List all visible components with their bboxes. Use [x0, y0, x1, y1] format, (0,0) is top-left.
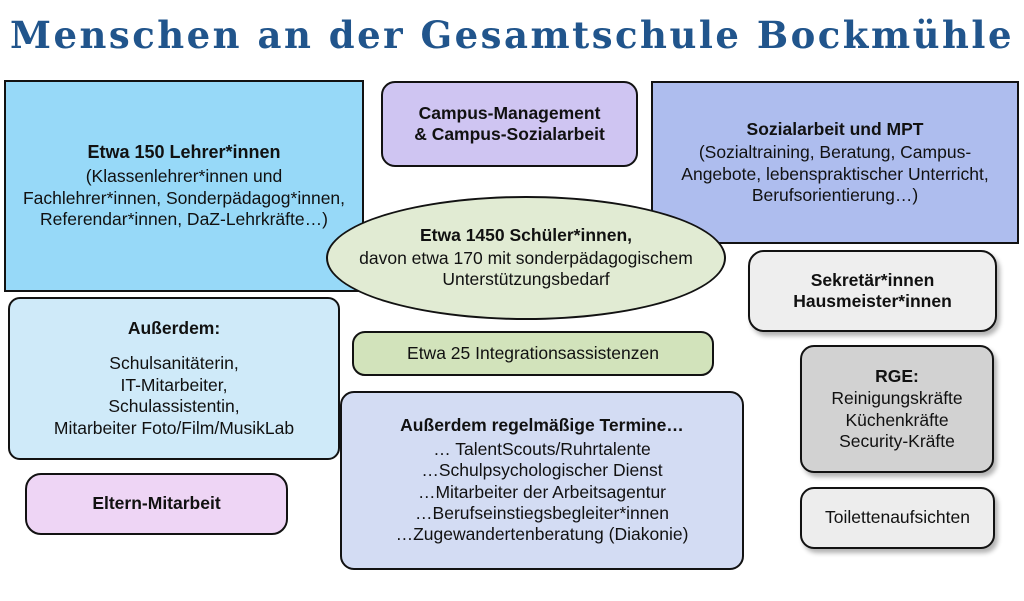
social-work-line-3: Berufsorientierung…)	[752, 185, 918, 206]
appointments-box[interactable]: Außerdem regelmäßige Termine… … TalentSc…	[340, 391, 744, 570]
additional-staff-line-1: Schulsanitäterin,	[109, 353, 238, 374]
social-work-heading: Sozialarbeit und MPT	[747, 119, 924, 140]
additional-staff-line-4: Mitarbeiter Foto/Film/MusikLab	[54, 418, 294, 439]
secretaries-line-2: Hausmeister*innen	[793, 291, 952, 312]
appointments-line-3: …Mitarbeiter der Arbeitsagentur	[418, 482, 666, 503]
social-work-box[interactable]: Sozialarbeit und MPT (Sozialtraining, Be…	[651, 81, 1019, 244]
campus-management-box[interactable]: Campus-Management & Campus-Sozialarbeit	[381, 81, 638, 167]
page-title: Menschen an der Gesamtschule Bockmühle	[0, 13, 1024, 57]
students-ellipse[interactable]: Etwa 1450 Schüler*innen, davon etwa 170 …	[326, 196, 726, 320]
campus-line-1: Campus-Management	[419, 103, 601, 124]
social-work-line-1: (Sozialtraining, Beratung, Campus-	[699, 142, 971, 163]
additional-staff-heading: Außerdem:	[128, 318, 220, 339]
rge-line-2: Küchenkräfte	[845, 410, 948, 431]
students-heading: Etwa 1450 Schüler*innen,	[420, 225, 632, 246]
teachers-line-1: (Klassenlehrer*innen und	[86, 166, 283, 187]
integration-label: Etwa 25 Integrationsassistenzen	[407, 343, 659, 364]
appointments-line-1: … TalentScouts/Ruhrtalente	[433, 439, 651, 460]
rge-line-3: Security-Kräfte	[839, 431, 955, 452]
toilet-supervision-box[interactable]: Toilettenaufsichten	[800, 487, 995, 549]
parents-box[interactable]: Eltern-Mitarbeit	[25, 473, 288, 535]
appointments-heading: Außerdem regelmäßige Termine…	[400, 415, 684, 436]
students-line-2: Unterstützungsbedarf	[442, 269, 609, 290]
secretaries-line-1: Sekretär*innen	[811, 270, 935, 291]
toilets-label: Toilettenaufsichten	[825, 507, 970, 528]
teachers-line-2: Fachlehrer*innen, Sonderpädagog*innen,	[23, 188, 345, 209]
diagram-canvas: Menschen an der Gesamtschule Bockmühle E…	[0, 0, 1024, 601]
rge-line-1: Reinigungskräfte	[831, 388, 962, 409]
additional-staff-line-2: IT-Mitarbeiter,	[121, 375, 228, 396]
teachers-line-3: Referendar*innen, DaZ-Lehrkräfte…)	[40, 209, 328, 230]
rge-heading: RGE:	[875, 366, 919, 387]
secretaries-caretakers-box[interactable]: Sekretär*innen Hausmeister*innen	[748, 250, 997, 332]
students-line-1: davon etwa 170 mit sonderpädagogischem	[359, 248, 693, 269]
additional-staff-box[interactable]: Außerdem: Schulsanitäterin, IT-Mitarbeit…	[8, 297, 340, 460]
teachers-heading: Etwa 150 Lehrer*innen	[87, 142, 280, 164]
campus-line-2: & Campus-Sozialarbeit	[414, 124, 605, 145]
teachers-box[interactable]: Etwa 150 Lehrer*innen (Klassenlehrer*inn…	[4, 80, 364, 292]
parents-label: Eltern-Mitarbeit	[92, 493, 220, 514]
integration-assistants-box[interactable]: Etwa 25 Integrationsassistenzen	[352, 331, 714, 376]
additional-staff-line-3: Schulassistentin,	[108, 396, 239, 417]
appointments-line-2: …Schulpsychologischer Dienst	[421, 460, 662, 481]
social-work-line-2: Angebote, lebenspraktischer Unterricht,	[681, 164, 988, 185]
appointments-line-5: …Zugewandertenberatung (Diakonie)	[396, 524, 689, 545]
appointments-line-4: …Berufseinstiegsbegleiter*innen	[415, 503, 669, 524]
rge-box[interactable]: RGE: Reinigungskräfte Küchenkräfte Secur…	[800, 345, 994, 473]
